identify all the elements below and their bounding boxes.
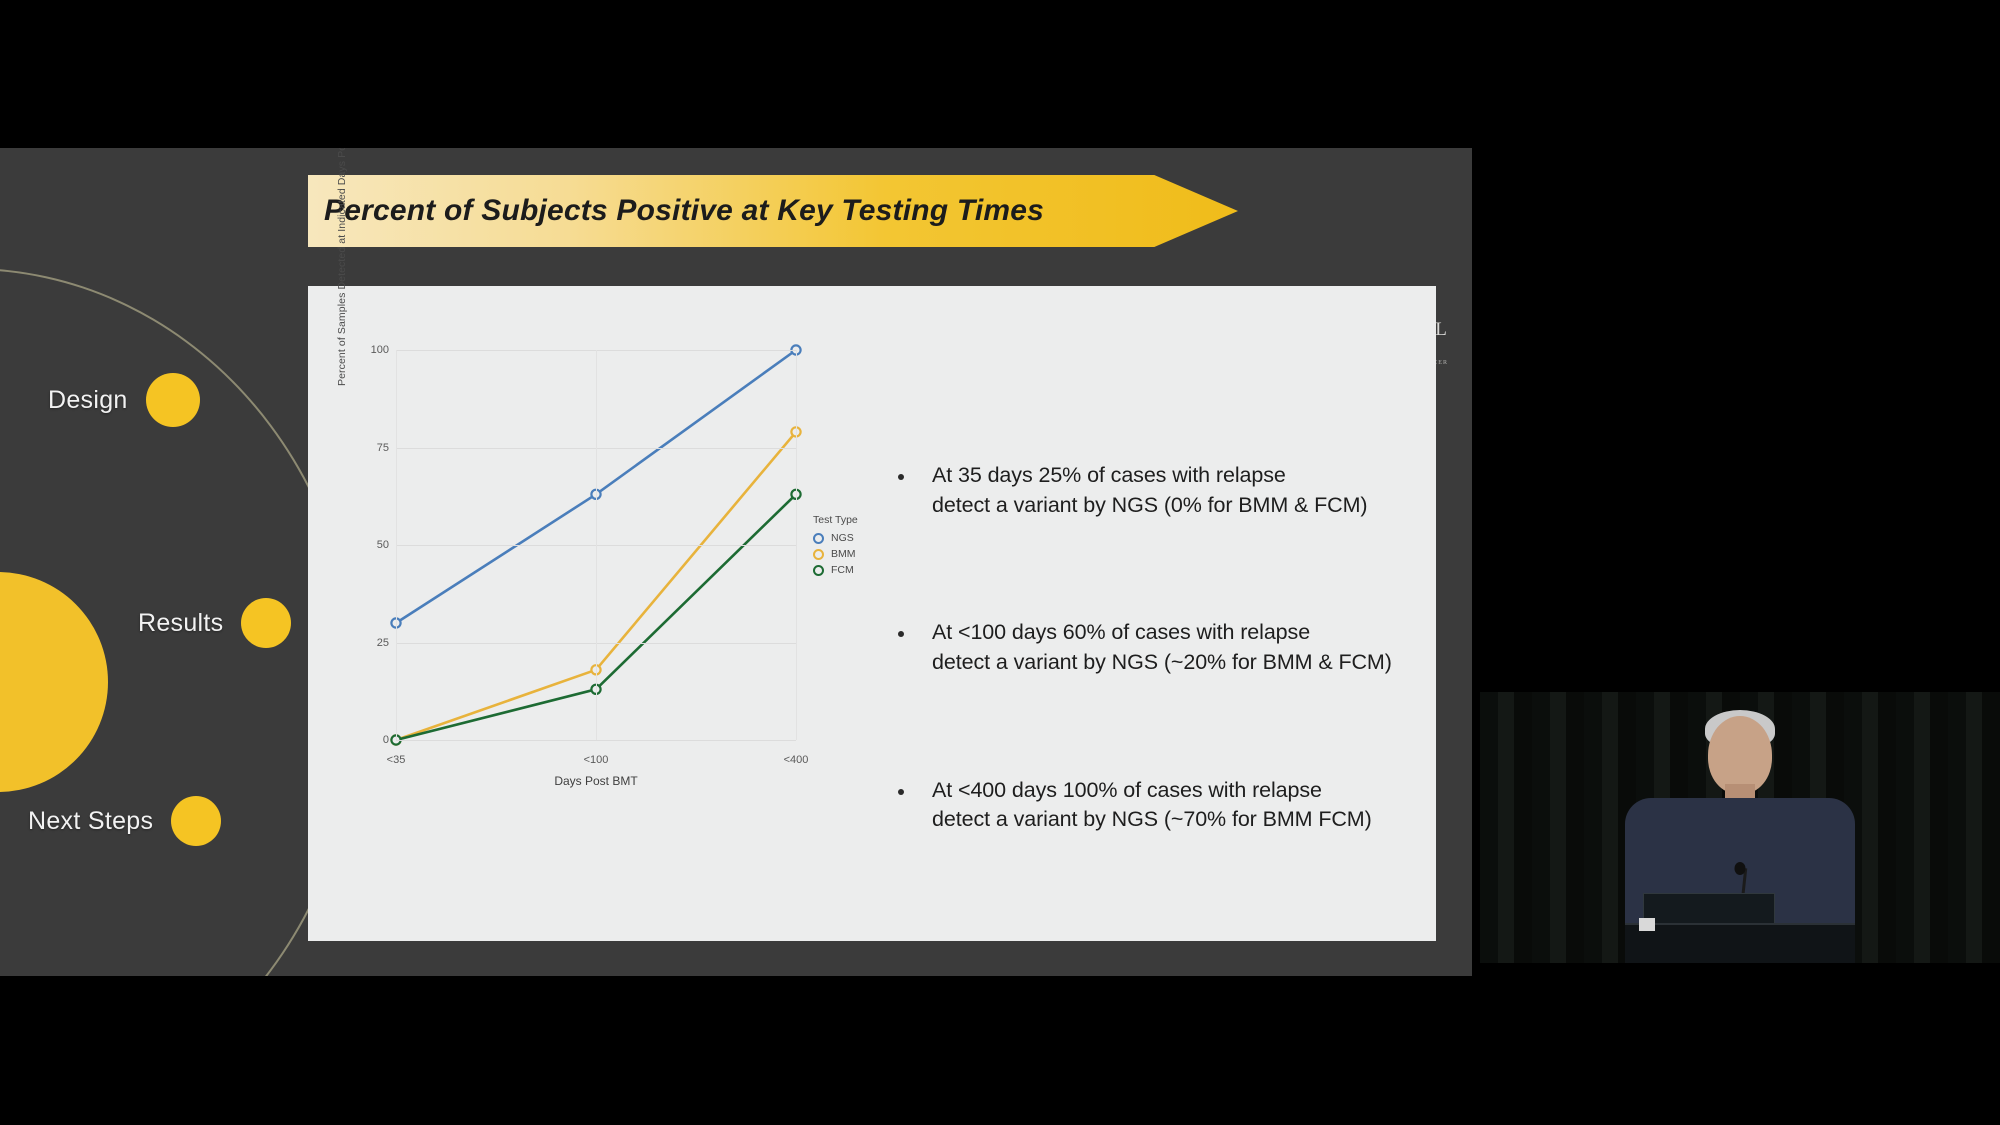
bullet-text: At <100 days 60% of cases with relapsede…	[932, 618, 1392, 677]
speaker-head	[1708, 716, 1772, 794]
chart-y-tick-label: 50	[377, 539, 389, 551]
bullet-list: At 35 days 25% of cases with relapsedete…	[898, 461, 1418, 933]
chart-x-tick-label: <35	[387, 754, 406, 766]
legend-marker-icon	[813, 565, 824, 576]
legend-item-bmm[interactable]: BMM	[813, 548, 858, 560]
presentation-slide: Design Results Next Steps Percent of Sub…	[0, 148, 1472, 976]
bullet-dot-icon	[898, 474, 904, 480]
legend-rows: NGSBMMFCM	[813, 532, 858, 576]
legend-item-fcm[interactable]: FCM	[813, 564, 858, 576]
sidebar-dot-icon	[241, 598, 291, 648]
bullet-item: At <100 days 60% of cases with relapsede…	[898, 618, 1418, 677]
bullet-dot-icon	[898, 789, 904, 795]
chart-y-tick-label: 25	[377, 637, 389, 649]
bullet-line-2: detect a variant by NGS (0% for BMM & FC…	[932, 491, 1367, 521]
sidebar-dot-icon	[146, 373, 200, 427]
legend-marker-icon	[813, 533, 824, 544]
chart-x-tick-label: <100	[584, 754, 609, 766]
chart-x-tick-label: <400	[784, 754, 809, 766]
sidebar-item-label: Next Steps	[28, 807, 153, 836]
sidebar-item-results[interactable]: Results	[138, 598, 291, 648]
bullet-line-2: detect a variant by NGS (~20% for BMM & …	[932, 648, 1392, 678]
microphone-icon	[1735, 862, 1746, 875]
bullet-line-1: At <100 days 60% of cases with relapse	[932, 618, 1392, 648]
legend-label: BMM	[831, 548, 856, 560]
sidebar-item-next-steps[interactable]: Next Steps	[28, 796, 221, 846]
legend-marker-icon	[813, 549, 824, 560]
chart-y-axis-title: Percent of Samples Detected at Indicated…	[336, 148, 348, 386]
chart-legend: Test Type NGSBMMFCM	[813, 514, 858, 580]
bullet-item: At 35 days 25% of cases with relapsedete…	[898, 461, 1418, 520]
chart-y-tick-label: 100	[371, 344, 389, 356]
chart-vertical-gridline	[396, 350, 397, 740]
bullet-line-2: detect a variant by NGS (~70% for BMM FC…	[932, 805, 1372, 835]
bullet-text: At 35 days 25% of cases with relapsedete…	[932, 461, 1367, 520]
chart-y-tick-label: 75	[377, 442, 389, 454]
chart-gridline	[396, 740, 796, 741]
video-letterbox-bottom	[1480, 963, 2000, 975]
chart-vertical-gridline	[796, 350, 797, 740]
sidebar-item-label: Results	[138, 609, 223, 638]
bullet-item: At <400 days 100% of cases with relapsed…	[898, 776, 1418, 835]
line-chart: Percent of Samples Detected at Indicated…	[338, 336, 898, 896]
podium-control-icon	[1639, 918, 1655, 931]
video-letterbox-top	[1480, 680, 2000, 692]
chart-y-tick-label: 0	[383, 734, 389, 746]
sidebar-item-design[interactable]: Design	[48, 373, 200, 427]
sidebar-item-label: Design	[48, 386, 128, 415]
bullet-line-1: At 35 days 25% of cases with relapse	[932, 461, 1367, 491]
legend-label: NGS	[831, 532, 854, 544]
page-title: Percent of Subjects Positive at Key Test…	[308, 194, 1044, 228]
speaker-video-thumbnail[interactable]	[1480, 680, 2000, 975]
bullet-dot-icon	[898, 631, 904, 637]
legend-title: Test Type	[813, 514, 858, 526]
legend-item-ngs[interactable]: NGS	[813, 532, 858, 544]
screen: Design Results Next Steps Percent of Sub…	[0, 0, 2000, 1125]
chart-plot-area: Days Post BMT 0255075100<35<100<400	[396, 350, 796, 740]
slide-title-banner: Percent of Subjects Positive at Key Test…	[308, 175, 1238, 247]
bullet-text: At <400 days 100% of cases with relapsed…	[932, 776, 1372, 835]
sidebar-dot-icon	[171, 796, 221, 846]
legend-label: FCM	[831, 564, 854, 576]
slide-content-panel: Percent of Samples Detected at Indicated…	[308, 286, 1436, 941]
chart-vertical-gridline	[596, 350, 597, 740]
chart-x-axis-title: Days Post BMT	[554, 774, 637, 788]
bullet-line-1: At <400 days 100% of cases with relapse	[932, 776, 1372, 806]
